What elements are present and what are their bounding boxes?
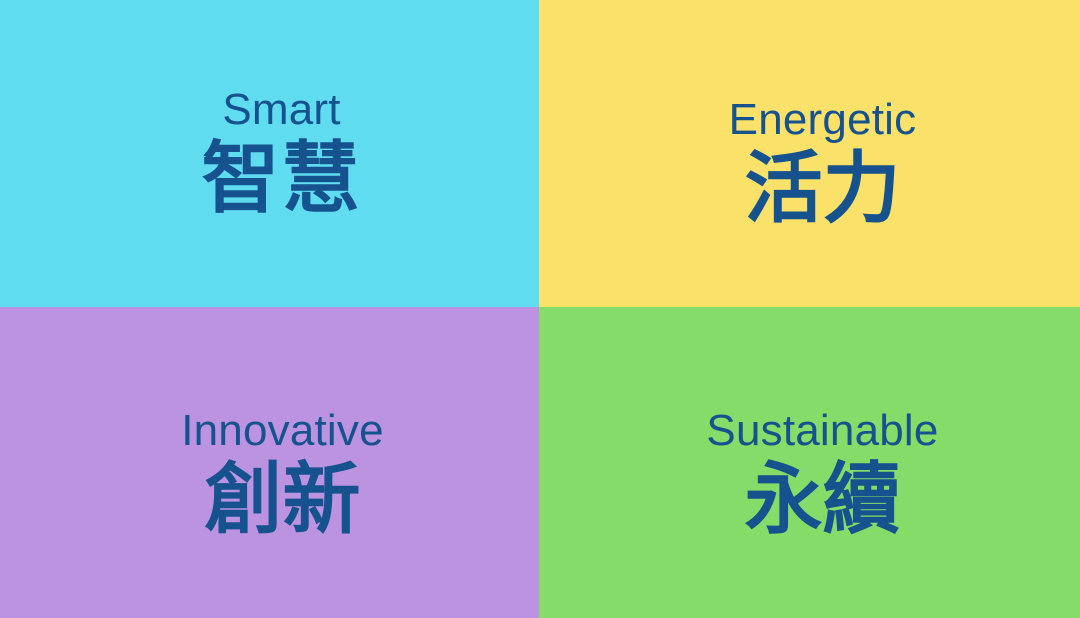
chinese-label-sustainable: 永續 [565, 457, 1080, 544]
text-block-sustainable: Sustainable 永續 [539, 407, 1080, 544]
text-block-energetic: Energetic 活力 [539, 96, 1080, 233]
quadrant-energetic[interactable]: Energetic 活力 [539, 0, 1080, 307]
quadrant-smart[interactable]: Smart 智慧 [0, 0, 539, 307]
brand-values-poster: Smart 智慧 Energetic 活力 Innovative 創新 Sust… [0, 0, 1080, 618]
english-label-smart: Smart [24, 86, 539, 134]
chinese-label-innovative: 創新 [26, 457, 539, 544]
text-block-smart: Smart 智慧 [0, 86, 539, 223]
quadrant-innovative[interactable]: Innovative 創新 [0, 307, 539, 618]
english-label-energetic: Energetic [565, 96, 1080, 144]
quadrant-sustainable[interactable]: Sustainable 永續 [539, 307, 1080, 618]
text-block-innovative: Innovative 創新 [0, 407, 539, 544]
chinese-label-energetic: 活力 [565, 146, 1080, 233]
chinese-label-smart: 智慧 [24, 136, 539, 223]
english-label-innovative: Innovative [26, 407, 539, 455]
english-label-sustainable: Sustainable [565, 407, 1080, 455]
